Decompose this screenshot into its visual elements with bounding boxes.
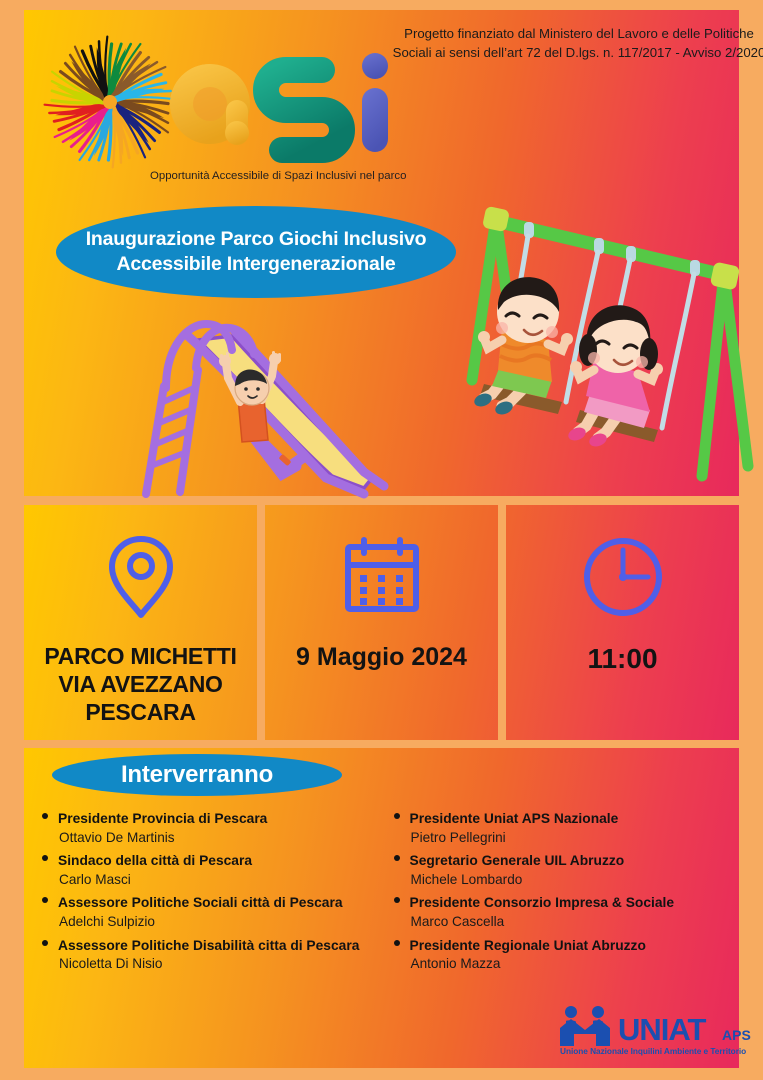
speaker-name: Carlo Masci (38, 871, 382, 889)
uniat-house-people-icon (556, 1006, 614, 1046)
title-banner: Inaugurazione Parco Giochi Inclusivo Acc… (56, 206, 456, 298)
speaker-name: Ottavio De Martinis (38, 829, 382, 847)
logo-letter-a (170, 64, 250, 154)
uniat-aps-suffix: APS (722, 1027, 751, 1043)
list-item: Segretario Generale UIL Abruzzo Michele … (390, 852, 740, 889)
location-pin-icon (107, 529, 175, 624)
bullet-icon (42, 813, 48, 819)
speaker-role: Assessore Politiche Disabilità citta di … (58, 938, 359, 953)
speaker-role: Presidente Consorzio Impresa & Sociale (410, 895, 675, 910)
uniat-wordmark: UNIAT (618, 1012, 705, 1048)
bullet-icon (394, 813, 400, 819)
speakers-column-left: Presidente Provincia di Pescara Ottavio … (24, 810, 382, 979)
list-item: Sindaco della città di Pescara Carlo Mas… (38, 852, 382, 889)
speaker-role: Presidente Regionale Uniat Abruzzo (410, 938, 646, 953)
info-panel-time: 11:00 (506, 505, 739, 740)
title-line-2: Accessibile Intergenerazionale (116, 253, 395, 275)
info-panel-date: 9 Maggio 2024 (265, 505, 498, 740)
swing-illustration (466, 198, 763, 498)
speaker-name: Antonio Mazza (390, 955, 740, 973)
bullet-icon (394, 855, 400, 861)
speaker-role: Presidente Uniat APS Nazionale (410, 811, 619, 826)
bullet-icon (42, 855, 48, 861)
oasi-tagline: Opportunità Accessibile di Spazi Inclusi… (150, 170, 400, 182)
bullet-icon (42, 940, 48, 946)
uniat-logo: UNIAT APS Unione Nazionale Inquilini Amb… (556, 1006, 756, 1068)
time-label: 11:00 (587, 642, 657, 676)
info-panel-location: PARCO MICHETTI VIA AVEZZANO PESCARA (24, 505, 257, 740)
info-panels-row: PARCO MICHETTI VIA AVEZZANO PESCARA (24, 505, 739, 740)
logo-letter-s (266, 70, 342, 150)
speakers-column-right: Presidente Uniat APS Nazionale Pietro Pe… (382, 810, 740, 979)
location-label: PARCO MICHETTI VIA AVEZZANO PESCARA (44, 642, 236, 726)
list-item: Presidente Consorzio Impresa & Sociale M… (390, 894, 740, 931)
list-item: Presidente Regionale Uniat Abruzzo Anton… (390, 937, 740, 974)
bullet-icon (394, 940, 400, 946)
clock-icon (582, 529, 664, 624)
speakers-heading: Interverranno (121, 761, 273, 789)
uniat-tagline: Unione Nazionale Inquilini Ambiente e Te… (560, 1046, 746, 1056)
list-item: Presidente Provincia di Pescara Ottavio … (38, 810, 382, 847)
speakers-section: Interverranno Presidente Provincia di Pe… (24, 748, 739, 1068)
slide-illustration (136, 306, 398, 506)
bullet-icon (42, 897, 48, 903)
date-label: 9 Maggio 2024 (296, 642, 467, 673)
poster: Progetto finanziato dal Ministero del La… (0, 0, 763, 1080)
funding-note: Progetto finanziato dal Ministero del La… (384, 24, 763, 62)
speaker-role: Sindaco della città di Pescara (58, 853, 252, 868)
title-line-1: Inaugurazione Parco Giochi Inclusivo (86, 228, 427, 250)
bullet-icon (394, 897, 400, 903)
speaker-role: Assessore Politiche Sociali città di Pes… (58, 895, 343, 910)
logo-letter-i (362, 53, 388, 152)
speakers-heading-banner: Interverranno (52, 754, 342, 796)
list-item: Presidente Uniat APS Nazionale Pietro Pe… (390, 810, 740, 847)
speaker-role: Segretario Generale UIL Abruzzo (410, 853, 625, 868)
asi-wordmark (170, 40, 400, 168)
calendar-icon (342, 529, 422, 624)
speaker-name: Marco Cascella (390, 913, 740, 931)
speaker-name: Pietro Pellegrini (390, 829, 740, 847)
speaker-name: Michele Lombardo (390, 871, 740, 889)
speaker-name: Nicoletta Di Nisio (38, 955, 382, 973)
oasi-logo: Opportunità Accessibile di Spazi Inclusi… (40, 32, 400, 190)
speaker-name: Adelchi Sulpizio (38, 913, 382, 931)
speakers-columns: Presidente Provincia di Pescara Ottavio … (24, 810, 739, 979)
speaker-role: Presidente Provincia di Pescara (58, 811, 267, 826)
top-section: Progetto finanziato dal Ministero del La… (24, 10, 739, 496)
list-item: Assessore Politiche Disabilità citta di … (38, 937, 382, 974)
pinwheel-icon (40, 32, 180, 172)
list-item: Assessore Politiche Sociali città di Pes… (38, 894, 382, 931)
